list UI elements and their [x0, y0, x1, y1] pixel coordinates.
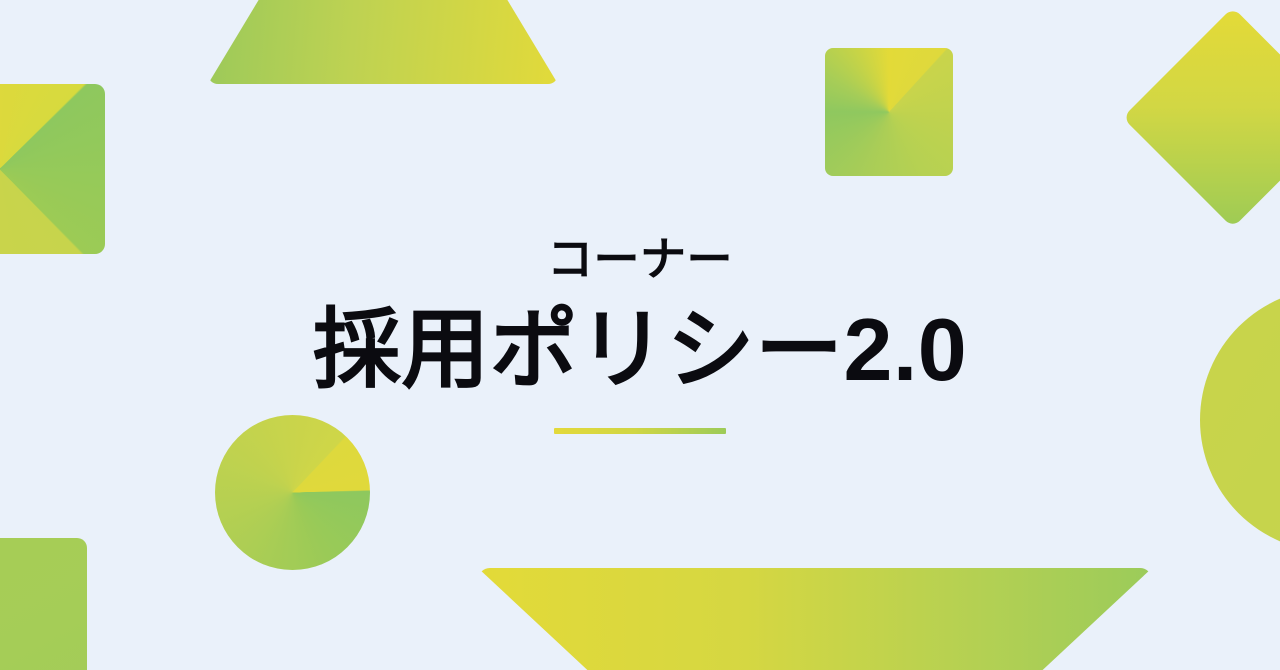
eyebrow-text: コーナー — [547, 236, 733, 282]
slide-canvas: コーナー 採用ポリシー2.0 — [0, 0, 1280, 670]
title-underline-bar — [554, 428, 726, 434]
title-block: コーナー 採用ポリシー2.0 — [0, 0, 1280, 670]
page-title: 採用ポリシー2.0 — [313, 304, 967, 396]
